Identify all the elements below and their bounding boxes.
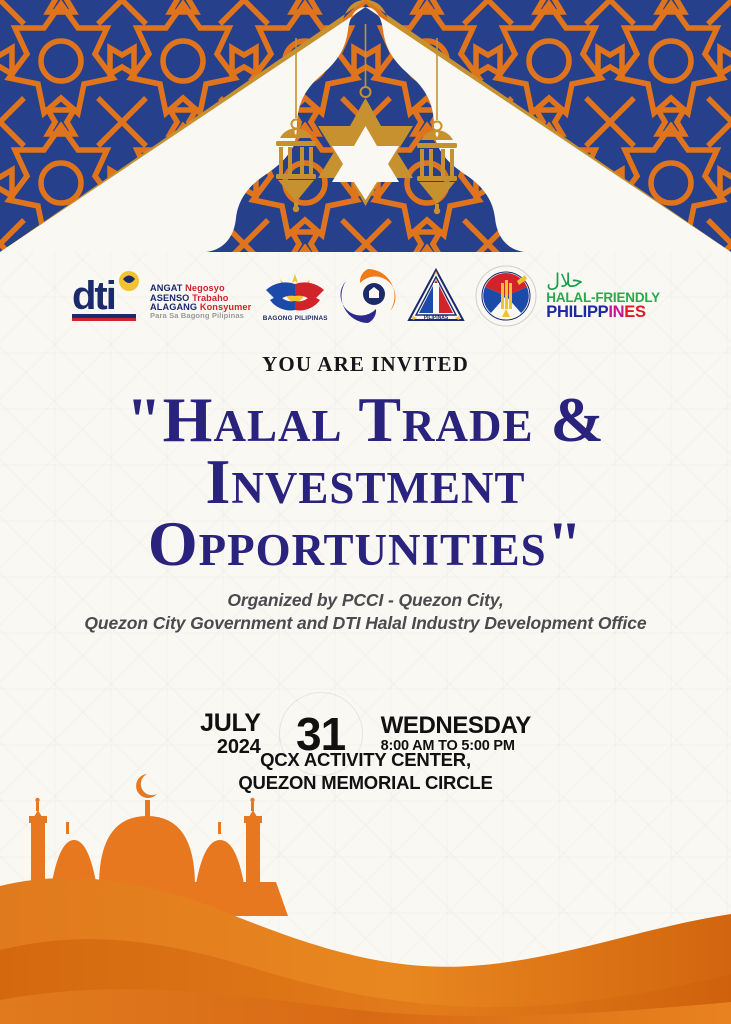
mosque-dunes-illustration	[0, 764, 731, 1024]
quezon-city-triangle-seal-icon: PILIPINAS	[406, 267, 466, 325]
philippines-part2: IN	[608, 303, 624, 321]
partner-logo-strip: dti ANGAT Negosyo ASENSO Trabaho ALAGANG…	[0, 250, 731, 342]
logo-pcci	[339, 267, 397, 325]
quezon-seal-caption: PILIPINAS	[424, 315, 449, 321]
logo-halal-friendly-philippines: حلال HALAL-FRIENDLY PHILIPPINES	[546, 272, 660, 321]
event-weekday: WEDNESDAY	[381, 714, 531, 739]
title-line-2: Investment	[0, 451, 731, 513]
event-month: JULY	[200, 711, 260, 737]
organizer-text: Organized by PCCI - Quezon City, Quezon …	[0, 589, 731, 635]
philippines-part1: PHILIPP	[546, 303, 608, 321]
halal-friendly-line1: HALAL-FRIENDLY	[546, 291, 660, 305]
title-line-1: "Halal Trade &	[0, 389, 731, 451]
svg-text:dti: dti	[72, 274, 115, 318]
invited-label: YOU ARE INVITED	[0, 352, 731, 377]
bagong-pilipinas-caption: BAGONG PILIPINAS	[263, 315, 328, 322]
logo-dti: dti ANGAT Negosyo ASENSO Trabaho ALAGANG…	[71, 269, 251, 323]
philippines-part3: ES	[624, 303, 645, 321]
six-point-star-icon	[318, 98, 413, 206]
lantern-right-icon	[417, 130, 457, 214]
logo-quezon-city-seal: PILIPINAS	[406, 267, 466, 325]
hanging-ornaments	[0, 0, 731, 252]
organizer-line-2: Quezon City Government and DTI Halal Ind…	[0, 612, 731, 635]
dti-slogan-4: Para Sa Bagong Pilipinas	[150, 312, 251, 320]
bagong-pilipinas-icon	[260, 270, 330, 314]
lantern-left-icon	[276, 128, 316, 212]
title-line-3: Opportunities"	[0, 513, 731, 575]
organizer-line-1: Organized by PCCI - Quezon City,	[0, 589, 731, 612]
halal-friendly-line2: PHILIPPINES	[546, 304, 645, 321]
qc-government-seal-icon	[475, 265, 537, 327]
logo-bagong-pilipinas: BAGONG PILIPINAS	[260, 270, 330, 322]
logo-qc-government-seal	[475, 265, 537, 327]
crescent-moon-icon	[136, 774, 157, 798]
poster-text-block: YOU ARE INVITED "Halal Trade & Investmen…	[0, 352, 731, 635]
event-poster: dti ANGAT Negosyo ASENSO Trabaho ALAGANG…	[0, 0, 731, 1024]
halal-arabic-text: حلال	[546, 272, 583, 291]
event-title: "Halal Trade & Investment Opportunities"	[0, 389, 731, 575]
dti-wordmark-icon: dti	[71, 269, 145, 323]
pcci-icon	[339, 267, 397, 325]
